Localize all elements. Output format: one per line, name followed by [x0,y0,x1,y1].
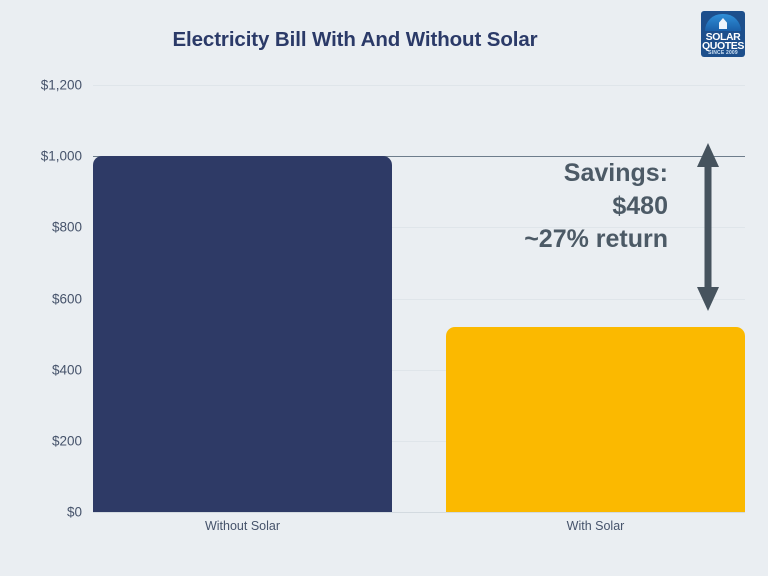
savings-annotation-line-3: ~27% return [430,223,668,256]
chart-container: Electricity Bill With And Without Solar … [0,0,768,576]
y-tick-label-800: $800 [2,220,82,235]
y-tick-label-1000: $1,000 [2,149,82,164]
bar-with-solar[interactable] [446,327,745,512]
y-tick-label-0: $0 [2,505,82,520]
y-tick-label-1200: $1,200 [2,78,82,93]
double-arrow-icon [692,141,724,313]
x-tick-label-without-solar: Without Solar [93,519,392,533]
y-tick-label-400: $400 [2,362,82,377]
savings-annotation-line-2: $480 [430,190,668,223]
y-tick-label-200: $200 [2,433,82,448]
solar-quotes-logo: SOLAR QUOTES SINCE 2009 [701,11,745,57]
bar-without-solar[interactable] [93,156,392,512]
plot-area [93,85,745,512]
y-axis: $1,200 $1,000 $800 $600 $400 $200 $0 [0,85,82,512]
savings-annotation-line-1: Savings: [430,157,668,190]
y-tick-label-600: $600 [2,291,82,306]
savings-annotation: Savings: $480 ~27% return [430,157,668,256]
gridline-1200 [93,85,745,86]
logo-background: SOLAR QUOTES SINCE 2009 [701,11,745,57]
chart-title: Electricity Bill With And Without Solar [40,28,670,52]
logo-since-text: SINCE 2009 [701,50,745,56]
x-tick-label-with-solar: With Solar [446,519,745,533]
x-axis-baseline [93,512,745,513]
